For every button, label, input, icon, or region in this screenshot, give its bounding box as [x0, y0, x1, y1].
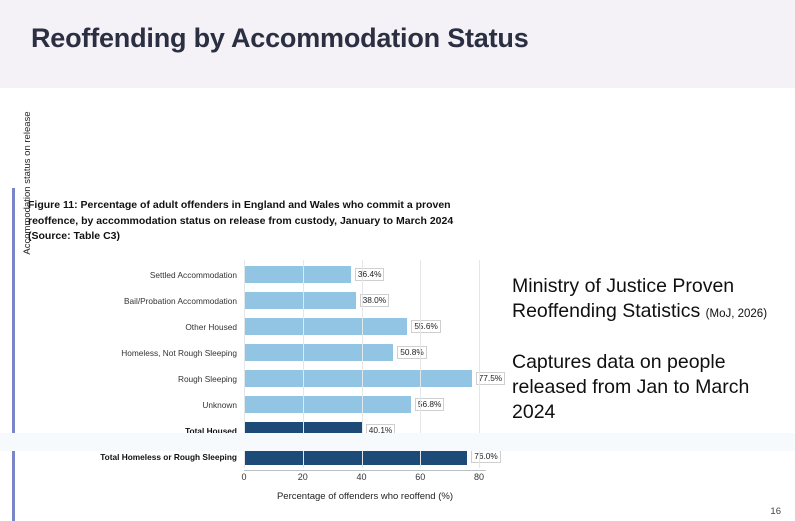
x-tick-label: 20 [298, 472, 308, 482]
bar-category-label: Unknown [44, 400, 244, 410]
bar [244, 266, 351, 283]
bar [244, 396, 411, 413]
bar [244, 292, 356, 309]
bar-value-label: 50.8% [397, 346, 427, 359]
bar-value-label: 77.5% [476, 372, 506, 385]
x-axis-ticks: 020406080 [244, 472, 486, 486]
bar-category-label: Homeless, Not Rough Sleeping [44, 348, 244, 358]
y-axis-title: Accommodation status on release [22, 88, 36, 278]
bar [244, 370, 472, 387]
figure-panel: Figure 11: Percentage of adult offenders… [12, 188, 494, 521]
source-main-text: Ministry of Justice Proven Reoffending S… [512, 275, 734, 322]
bar [244, 318, 407, 335]
bar-category-label: Rough Sleeping [44, 374, 244, 384]
slide-number: 16 [770, 506, 781, 517]
bar-value-label: 55.6% [411, 320, 441, 333]
bar-category-label: Other Housed [44, 322, 244, 332]
bar-category-label: Settled Accommodation [44, 270, 244, 280]
bar-chart: Accommodation status on release Settled … [28, 260, 486, 512]
coverage-statement: Captures data on people released from Ja… [512, 350, 784, 426]
source-citation: (MoJ, 2026) [706, 308, 767, 320]
source-statement: Ministry of Justice Proven Reoffending S… [512, 274, 784, 325]
footer-band [0, 433, 795, 451]
x-tick-label: 80 [474, 472, 484, 482]
header-band: Reoffending by Accommodation Status [0, 0, 795, 88]
figure-caption: Figure 11: Percentage of adult offenders… [28, 198, 483, 245]
bar [244, 344, 393, 361]
x-tick-label: 40 [356, 472, 366, 482]
bar-category-label: Bail/Probation Accommodation [44, 296, 244, 306]
x-tick-label: 60 [415, 472, 425, 482]
x-tick-label: 0 [241, 472, 246, 482]
plot-area: Settled Accommodation36.4%Bail/Probation… [44, 260, 486, 512]
bar-value-label: 38.0% [360, 294, 390, 307]
x-axis-title: Percentage of offenders who reoffend (%) [244, 491, 486, 502]
bar-value-label: 36.4% [355, 268, 385, 281]
right-text-column: Ministry of Justice Proven Reoffending S… [512, 274, 784, 426]
slide-body: Figure 11: Percentage of adult offenders… [0, 88, 795, 433]
bar-value-label: 76.0% [471, 450, 501, 463]
page-title: Reoffending by Accommodation Status [31, 23, 529, 54]
x-axis-line [244, 470, 486, 471]
bar-category-label: Total Homeless or Rough Sleeping [44, 452, 244, 462]
